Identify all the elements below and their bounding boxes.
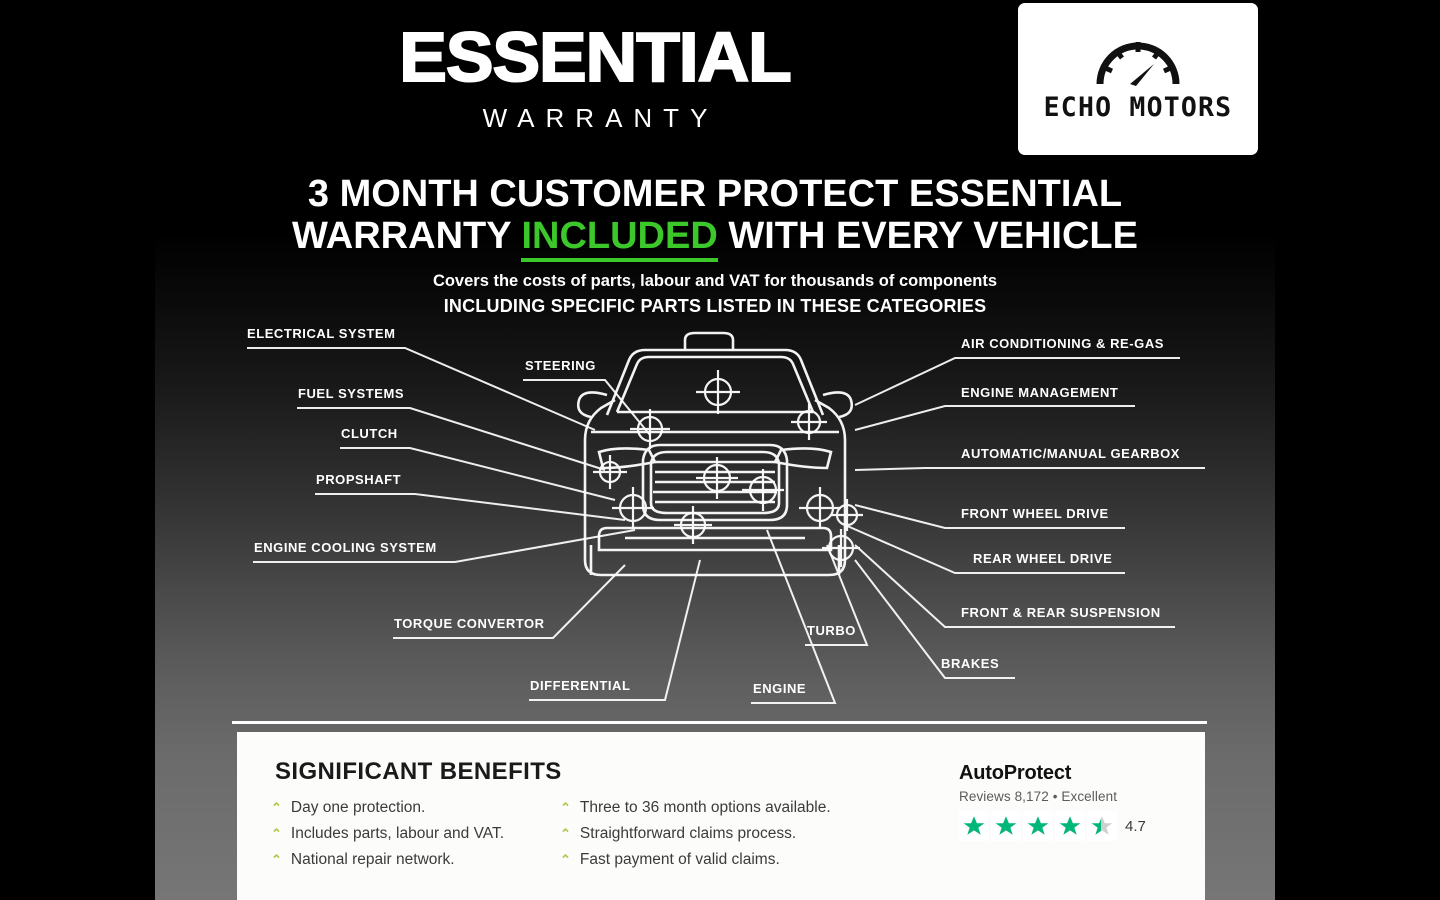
star-rating [959,811,1117,841]
benefits-column-2: ⌃ Three to 36 month options available. ⌃… [560,798,831,869]
benefits-list: ⌃ Day one protection. ⌃ Includes parts, … [271,798,911,869]
diagram-vector-layer [155,0,1275,740]
callout-engine: ENGINE [753,681,806,696]
rating-stars-row: 4.7 [959,811,1189,841]
component-diagram: ELECTRICAL SYSTEM FUEL SYSTEMS CLUTCH PR… [155,0,1275,740]
car-front-illustration [578,333,852,575]
callout-clutch: CLUTCH [341,426,398,441]
callout-rear-wheel-drive: REAR WHEEL DRIVE [973,551,1112,566]
callout-automatic-manual-gearbox: AUTOMATIC/MANUAL GEARBOX [961,446,1180,461]
callout-torque-convertor: TORQUE CONVERTOR [394,616,545,631]
infographic-root: ESSENTIAL WARRANTY ECHO MOTORS 3 MONTH C… [0,0,1440,900]
benefits-panel: SIGNIFICANT BENEFITS ⌃ Day one protectio… [237,732,1205,900]
section-divider [232,721,1207,724]
callout-front-wheel-drive: FRONT WHEEL DRIVE [961,506,1109,521]
benefit-text: Fast payment of valid claims. [580,850,780,869]
list-item: ⌃ National repair network. [271,850,504,869]
callout-steering: STEERING [525,358,596,373]
callout-engine-cooling-system: ENGINE COOLING SYSTEM [254,540,437,555]
benefits-column-1: ⌃ Day one protection. ⌃ Includes parts, … [271,798,504,869]
benefit-text: Includes parts, labour and VAT. [291,824,504,843]
list-item: ⌃ Fast payment of valid claims. [560,850,831,869]
callout-differential: DIFFERENTIAL [530,678,630,693]
list-item: ⌃ Includes parts, labour and VAT. [271,824,504,843]
list-item: ⌃ Three to 36 month options available. [560,798,831,817]
star-icon [991,811,1021,841]
star-icon [1087,811,1117,841]
star-icon [959,811,989,841]
callout-electrical-system: ELECTRICAL SYSTEM [247,326,396,341]
benefit-text: Day one protection. [291,798,425,817]
star-icon [1055,811,1085,841]
rating-score: 4.7 [1125,818,1146,835]
benefit-text: Three to 36 month options available. [580,798,831,817]
callout-front-rear-suspension: FRONT & REAR SUSPENSION [961,605,1161,620]
chevron-up-icon: ⌃ [271,824,282,843]
callout-engine-management: ENGINE MANAGEMENT [961,385,1118,400]
callout-turbo: TURBO [807,623,856,638]
rating-reviews-text: Reviews 8,172 • Excellent [959,789,1189,804]
callout-propshaft: PROPSHAFT [316,472,401,487]
benefit-text: National repair network. [291,850,455,869]
content-area: ESSENTIAL WARRANTY ECHO MOTORS 3 MONTH C… [155,0,1275,900]
rating-brand-name: AutoProtect [959,762,1189,785]
list-item: ⌃ Straightforward claims process. [560,824,831,843]
chevron-up-icon: ⌃ [560,824,571,843]
autoprotect-rating: AutoProtect Reviews 8,172 • Excellent 4.… [959,762,1189,841]
benefit-text: Straightforward claims process. [580,824,796,843]
star-icon [1023,811,1053,841]
chevron-up-icon: ⌃ [271,798,282,817]
callout-air-conditioning-regas: AIR CONDITIONING & RE-GAS [961,336,1164,351]
callout-fuel-systems: FUEL SYSTEMS [298,386,404,401]
chevron-up-icon: ⌃ [560,798,571,817]
callout-brakes: BRAKES [941,656,999,671]
list-item: ⌃ Day one protection. [271,798,504,817]
chevron-up-icon: ⌃ [271,850,282,869]
chevron-up-icon: ⌃ [560,850,571,869]
benefits-title: SIGNIFICANT BENEFITS [275,758,562,786]
